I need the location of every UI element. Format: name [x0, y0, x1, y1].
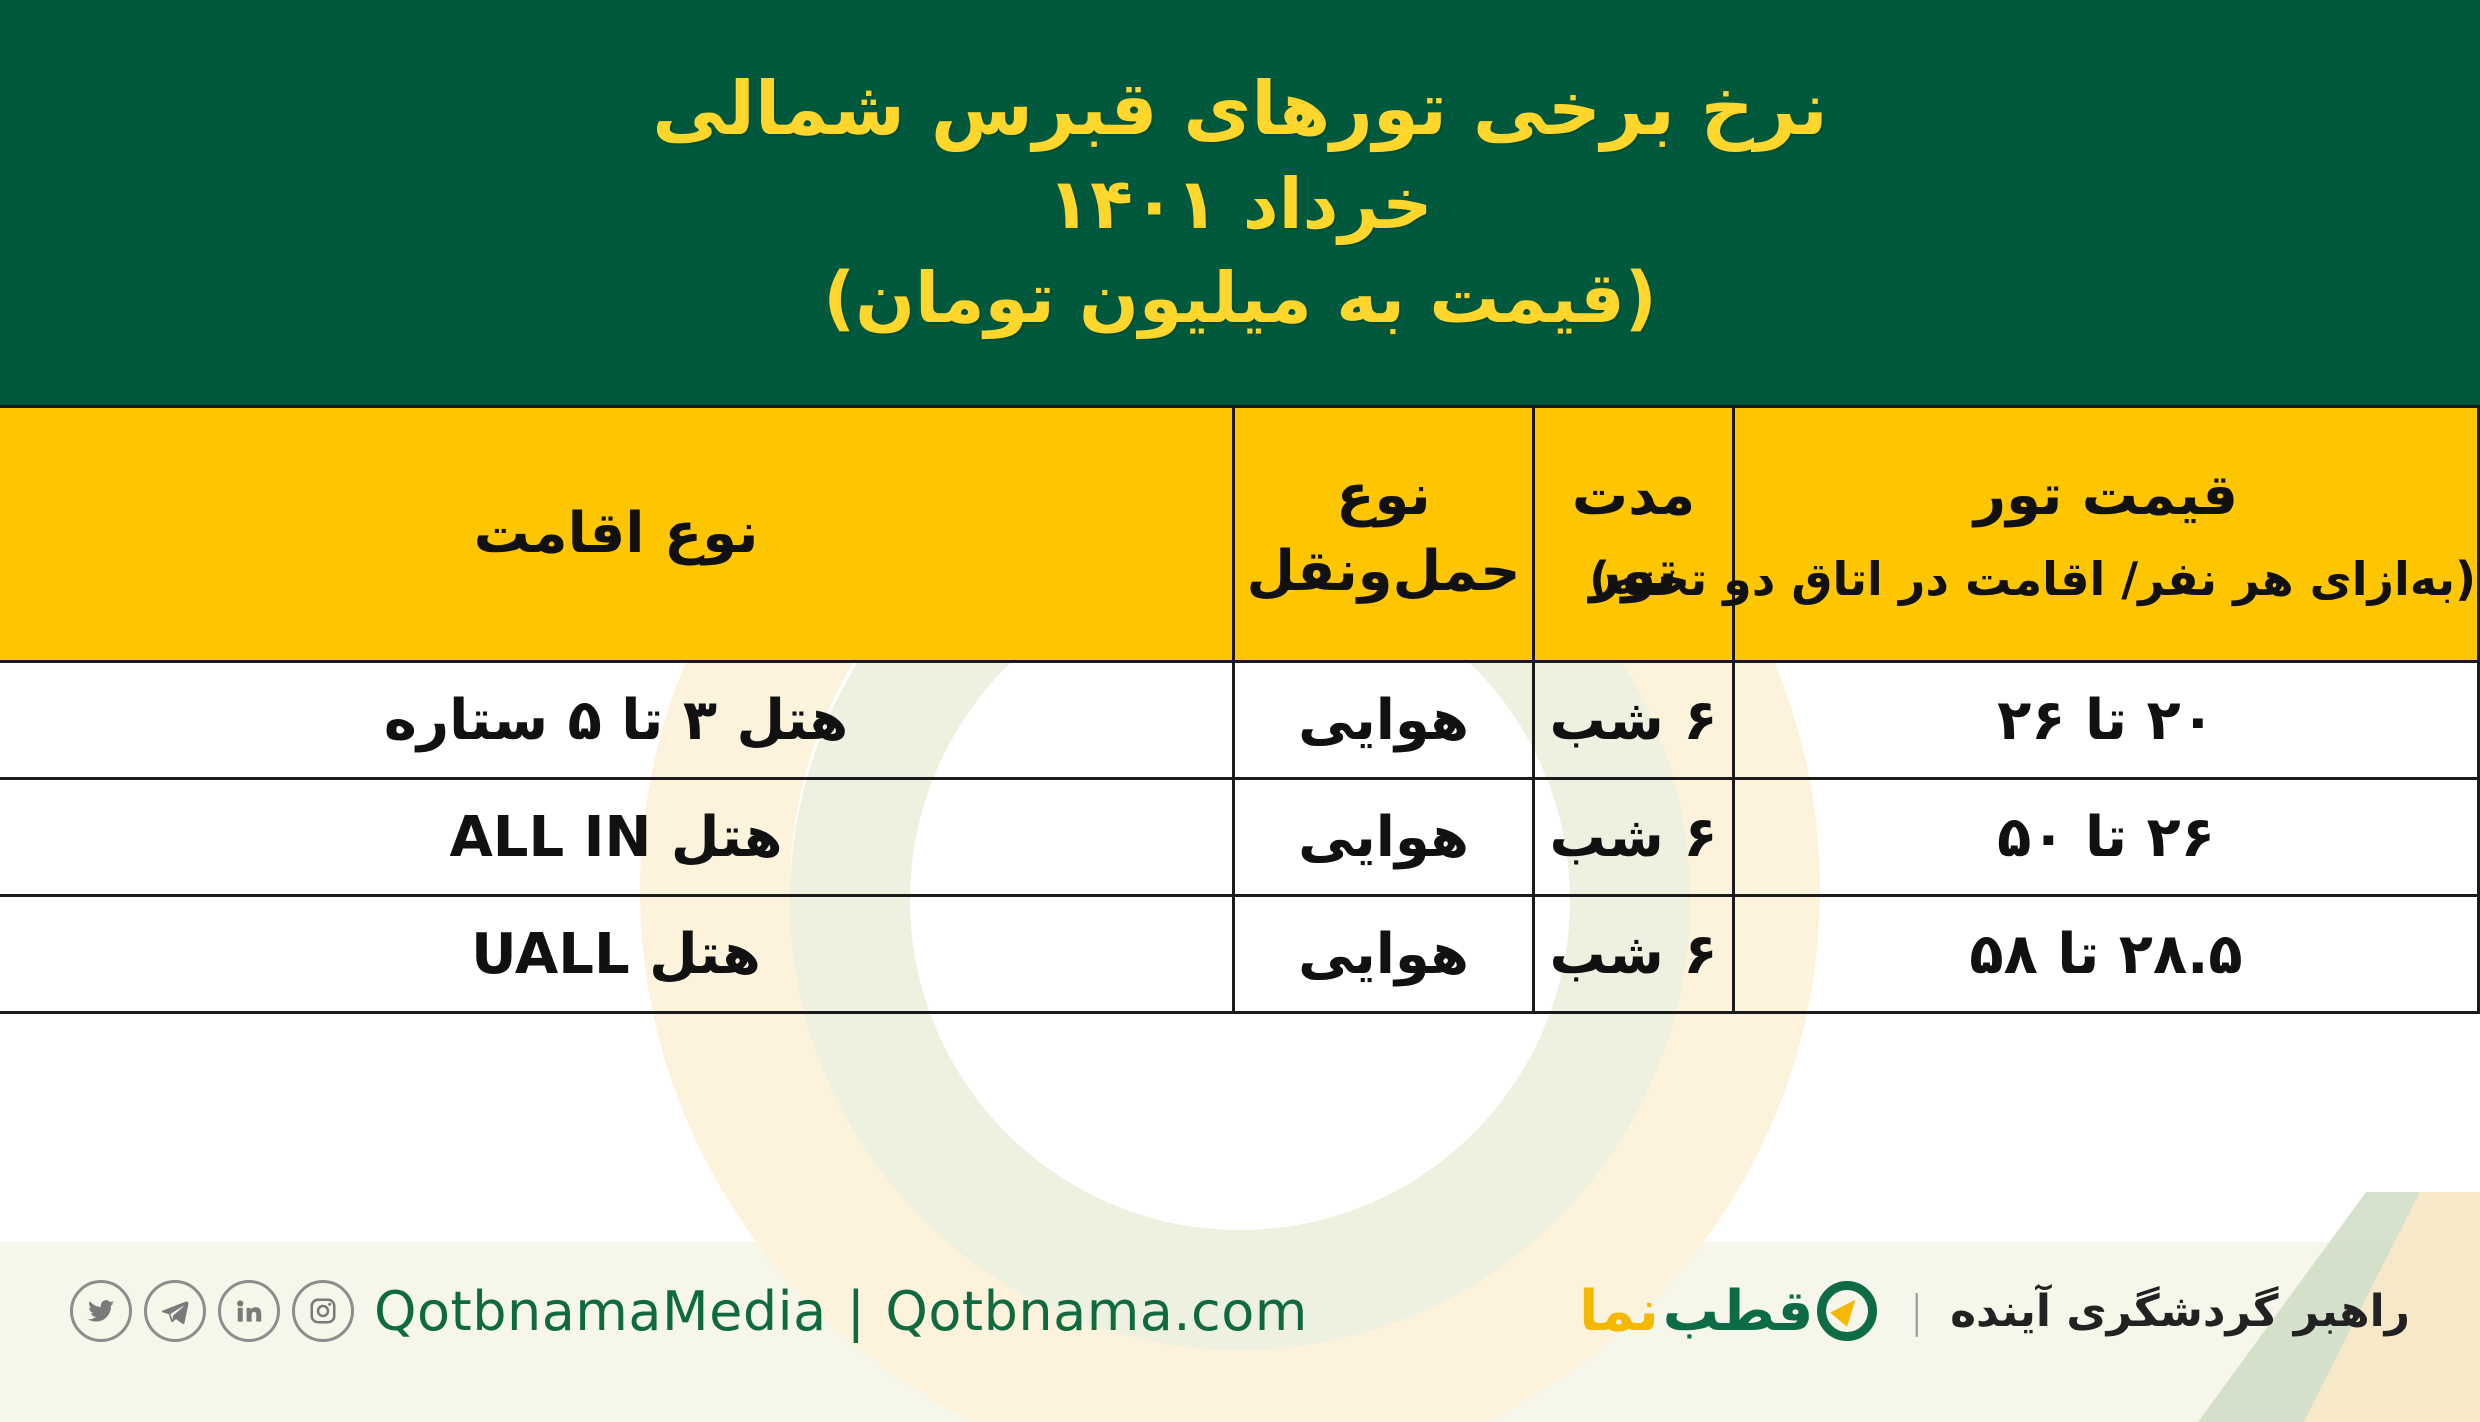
banner-title-line-3: (قیمت به میلیون تومان): [823, 254, 1657, 344]
column-header-price-main: قیمت تور: [1736, 458, 2476, 534]
brand-block: راهبر گردشگری آینده | قطب نما: [1579, 1279, 2410, 1344]
cell-price: ۲۸.۵ تا ۵۸: [1734, 896, 2479, 1013]
twitter-icon[interactable]: [70, 1280, 132, 1342]
table-container: قیمت تور (به‌ازای هر نفر/ اقامت در اتاق …: [0, 405, 2480, 1014]
cell-stay: هتل ۳ تا ۵ ستاره: [0, 662, 1234, 779]
cell-duration: ۶ شب: [1534, 896, 1734, 1013]
page-footer: راهبر گردشگری آینده | قطب نما: [0, 1200, 2480, 1422]
brand-separator: |: [1909, 1286, 1924, 1337]
cell-duration: ۶ شب: [1534, 779, 1734, 896]
social-icons-row: [70, 1280, 354, 1342]
column-header-transport: نوع حمل‌ونقل: [1234, 407, 1534, 662]
brand-logo[interactable]: قطب نما: [1579, 1279, 1883, 1344]
cell-duration: ۶ شب: [1534, 662, 1734, 779]
table-header-row: قیمت تور (به‌ازای هر نفر/ اقامت در اتاق …: [0, 407, 2479, 662]
title-banner: نرخ برخی تورهای قبرس شمالی خرداد ۱۴۰۱ (ق…: [0, 0, 2480, 405]
infographic-root: نرخ برخی تورهای قبرس شمالی خرداد ۱۴۰۱ (ق…: [0, 0, 2480, 1422]
cell-stay: هتل ALL IN: [0, 779, 1234, 896]
cell-transport: هوایی: [1234, 896, 1534, 1013]
column-header-stay-main: نوع اقامت: [1, 496, 1231, 572]
social-handle: QotbnamaMedia: [374, 1280, 827, 1343]
cell-price: ۲۰ تا ۲۶: [1734, 662, 2479, 779]
social-block: QotbnamaMedia | Qotbnama.com: [70, 1280, 1308, 1343]
banner-title-line-1: نرخ برخی تورهای قبرس شمالی: [652, 62, 1828, 157]
telegram-icon[interactable]: [144, 1280, 206, 1342]
table-row: ۲۶ تا ۵۰ ۶ شب هوایی هتل ALL IN: [0, 779, 2479, 896]
compass-icon: [1817, 1281, 1877, 1341]
instagram-icon[interactable]: [292, 1280, 354, 1342]
column-header-price-sub: (به‌ازای هر نفر/ اقامت در اتاق دو تخته): [1736, 548, 2476, 610]
table-row: ۲۸.۵ تا ۵۸ ۶ شب هوایی هتل UALL: [0, 896, 2479, 1013]
column-header-duration: مدت تور: [1534, 407, 1734, 662]
linkedin-icon[interactable]: [218, 1280, 280, 1342]
cell-transport: هوایی: [1234, 662, 1534, 779]
cell-price: ۲۶ تا ۵۰: [1734, 779, 2479, 896]
cell-transport: هوایی: [1234, 779, 1534, 896]
brand-logo-word-yellow: نما: [1579, 1279, 1659, 1344]
brand-logo-word-green: قطب: [1663, 1279, 1814, 1344]
tour-price-table: قیمت تور (به‌ازای هر نفر/ اقامت در اتاق …: [0, 405, 2480, 1014]
handle-separator: |: [847, 1280, 866, 1343]
brand-tagline: راهبر گردشگری آینده: [1950, 1286, 2410, 1337]
website-url[interactable]: Qotbnama.com: [885, 1280, 1308, 1343]
column-header-transport-main: نوع حمل‌ونقل: [1236, 458, 1531, 609]
table-row: ۲۰ تا ۲۶ ۶ شب هوایی هتل ۳ تا ۵ ستاره: [0, 662, 2479, 779]
banner-title-line-2: خرداد ۱۴۰۱: [1047, 160, 1432, 250]
column-header-price: قیمت تور (به‌ازای هر نفر/ اقامت در اتاق …: [1734, 407, 2479, 662]
column-header-stay: نوع اقامت: [0, 407, 1234, 662]
cell-stay: هتل UALL: [0, 896, 1234, 1013]
